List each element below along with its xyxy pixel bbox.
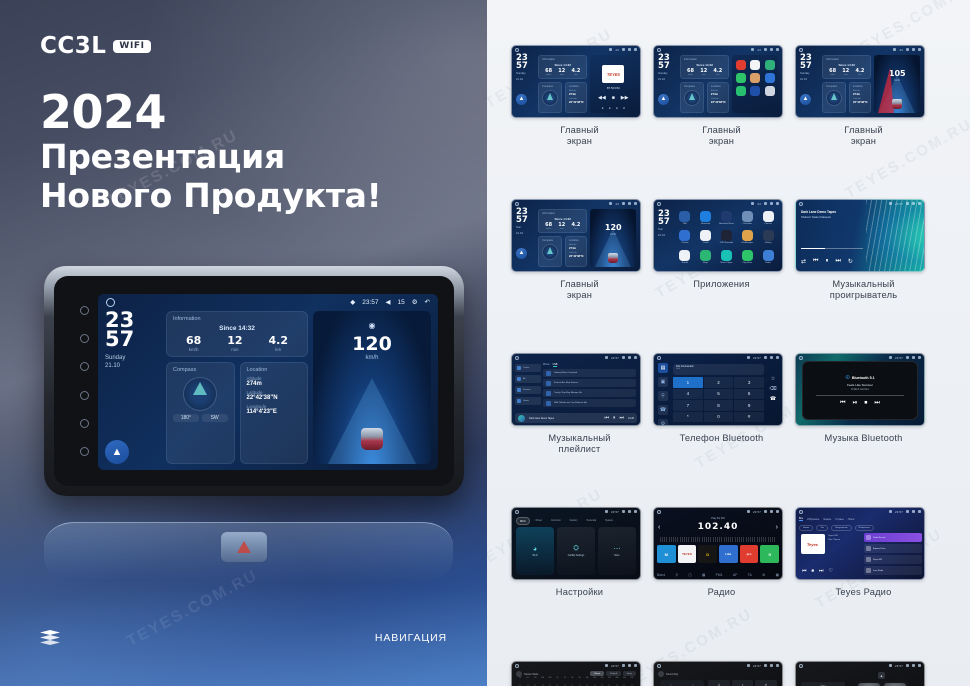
- clock-widget[interactable]: 23 57 Sunday 21.10 ▲: [658, 55, 677, 113]
- gallery-item[interactable]: 23:57 Play list FM ‹› 102.40 М TEYES D L…: [653, 507, 790, 615]
- gear-icon[interactable]: [628, 356, 631, 359]
- home-icon[interactable]: [106, 298, 115, 307]
- thumbnail-home-apps[interactable]: 23 23 57 Sunday 21.10 ▲ Information Sinc…: [653, 45, 783, 118]
- app-tile[interactable]: Music Player: [718, 250, 736, 267]
- preset-pop[interactable]: ♫Pop: [708, 680, 730, 686]
- information-card[interactable]: Information Since 14:32 68km/h 12min 4.2…: [680, 55, 729, 79]
- app-tile[interactable]: Carbit: [697, 230, 715, 247]
- key-4[interactable]: 4: [673, 389, 703, 400]
- eq-band-500[interactable]: 500: [547, 681, 553, 686]
- thumbnail-apps[interactable]: 23 23 57 Sun 21.10 WiFi Bluetooth Blueto…: [653, 199, 783, 272]
- thumbnail-equalizer-presets[interactable]: 23:57 Sound EQ ♫Pop ♪Classic ♬Rock ♩Jazz…: [653, 661, 783, 686]
- eq-band-4k[interactable]: 4k: [569, 681, 575, 686]
- bluetooth-icon[interactable]: ●: [601, 106, 603, 110]
- back-icon[interactable]: [918, 48, 921, 51]
- radio-icon[interactable]: ●: [609, 106, 611, 110]
- default-button[interactable]: Default: [606, 671, 621, 676]
- save-button[interactable]: Save: [623, 671, 636, 676]
- radio-frequency: 87.50 FM: [590, 86, 636, 90]
- speed-widget[interactable]: 105 km/h: [874, 55, 920, 113]
- eq-band-63k[interactable]: 63k: [629, 681, 635, 686]
- search-icon[interactable]: ⚲: [658, 391, 668, 401]
- app-tile[interactable]: WiFi: [676, 211, 694, 228]
- compass-card[interactable]: Compass: [680, 82, 704, 113]
- back-icon[interactable]: [776, 202, 779, 205]
- chip-favorites[interactable]: Избранное: [855, 525, 874, 531]
- back-icon[interactable]: [776, 664, 779, 667]
- usb-icon[interactable]: ●: [616, 106, 618, 110]
- station-icon: [866, 568, 871, 573]
- player-controls[interactable]: ⏮ ⏹ ⏭ ♡: [802, 568, 833, 574]
- eq-band-20k[interactable]: 20k: [591, 681, 597, 686]
- thumbnail-home-speed-120[interactable]: 23 23 57 Sun 21.10 ▲ Information Since 1…: [511, 199, 641, 272]
- eq-band-31k[interactable]: 31k: [606, 681, 612, 686]
- balance-pad[interactable]: [856, 681, 908, 686]
- af-button[interactable]: AF: [733, 573, 737, 577]
- settings-card-car[interactable]: ⛭Car/EQ Settings: [557, 527, 595, 575]
- app-icon-settings[interactable]: [750, 86, 760, 96]
- eq-preset-buttons[interactable]: ♫Pop ♪Classic ♬Rock ♩Jazz ⚙Custom ♬Vocal…: [708, 680, 777, 686]
- app-icon-youtube[interactable]: [736, 60, 746, 70]
- gallery-item[interactable]: 23:57 Sound EQ ♫Pop ♪Classic ♬Rock ♩Jazz…: [653, 661, 790, 686]
- gallery-item[interactable]: 23:57 Все Избранное Жанры Страны Поиск Н…: [795, 507, 932, 615]
- tab-all[interactable]: Все: [799, 517, 803, 521]
- back-icon[interactable]: [634, 202, 637, 205]
- previous-icon[interactable]: ⏮: [802, 568, 807, 574]
- home-icon[interactable]: [657, 510, 661, 514]
- frequency-scale[interactable]: [660, 537, 776, 542]
- stop-icon[interactable]: ■: [612, 95, 615, 101]
- contacts-icon[interactable]: ▣: [658, 377, 668, 387]
- settings-card-wifi[interactable]: ◕Wi-Fi: [516, 527, 554, 575]
- thumbnail-radio[interactable]: 23:57 Play list FM ‹› 102.40 М TEYES D L…: [653, 507, 783, 580]
- gallery-app-icon[interactable]: [763, 230, 774, 241]
- back-icon[interactable]: [634, 510, 637, 513]
- key-6[interactable]: 6: [734, 389, 764, 400]
- gear-icon[interactable]: [628, 664, 631, 667]
- tab-usb[interactable]: USB: [553, 364, 558, 367]
- gallery-item[interactable]: 23:57 Wi-Fi Driver Common Factory Person…: [511, 507, 648, 615]
- gear-icon[interactable]: [628, 48, 631, 51]
- key-8[interactable]: 8: [704, 400, 734, 411]
- bluetooth-app-icon[interactable]: [700, 211, 711, 222]
- information-card[interactable]: Information Since 14:32 68km/h 12min 4.2…: [538, 209, 587, 233]
- list-item[interactable]: Tracky Chip Rap Mixtape No: [543, 389, 636, 397]
- settings-icon[interactable]: ⚙: [762, 573, 765, 577]
- thumbnail-bluetooth-phone[interactable]: 23:57 ▤ ▣ ⚲ ☎ ⚙ Not Connected Dial 1 2 3…: [653, 353, 783, 426]
- home-icon[interactable]: [515, 510, 519, 514]
- app-tile[interactable]: Ermob: [676, 250, 694, 267]
- thumbnail-home-speed-105[interactable]: 23 23 57 Sunday 21.10 ▲ Information Sinc…: [795, 45, 925, 118]
- gear-icon[interactable]: [770, 664, 773, 667]
- home-icon[interactable]: [799, 202, 803, 206]
- gear-icon[interactable]: [628, 202, 631, 205]
- hw-button-power-icon[interactable]: [80, 306, 89, 315]
- gallery-item[interactable]: 23 23 57 Sunday 21.10 ▲ Information Sinc…: [795, 45, 932, 153]
- stop-icon[interactable]: ⏹: [812, 568, 815, 574]
- gallery-item[interactable]: 23:57 Tracks All Favorite Genre Phone US…: [511, 353, 648, 461]
- tab-genres[interactable]: Жанры: [823, 518, 831, 521]
- next-icon[interactable]: ⏭: [620, 415, 625, 421]
- back-icon[interactable]: [918, 664, 921, 667]
- gear-icon[interactable]: [770, 510, 773, 513]
- gallery-item[interactable]: 23 23 57 Sunday 21.10 ▲ Information Sinc…: [653, 45, 790, 153]
- location-card[interactable]: Location Altitude 274m Latitude 22°42'38…: [240, 362, 309, 464]
- gallery-item[interactable]: 23:57 Stereo Wide Reset Default Save 326…: [511, 661, 648, 686]
- dvr-app-icon[interactable]: [721, 230, 732, 241]
- equalizer-band-sliders[interactable]: 32641252505001k2k4k8k16k20k25k31k40k50k6…: [517, 681, 635, 686]
- home-icon[interactable]: [657, 202, 661, 206]
- next-icon[interactable]: ⏭: [835, 258, 840, 265]
- list-item[interactable]: Fastest Ace Rap Startrus: [543, 379, 636, 387]
- backspace-icon[interactable]: ⌫: [769, 386, 776, 392]
- maps-app-icon[interactable]: [700, 250, 711, 261]
- camera-app-icon[interactable]: [763, 211, 774, 222]
- search-icon[interactable]: ⚲: [675, 573, 678, 577]
- thumbnail-teyes-radio[interactable]: 23:57 Все Избранное Жанры Страны Поиск Н…: [795, 507, 925, 580]
- sidebar-item-tracks[interactable]: Tracks: [515, 364, 541, 372]
- app-tile[interactable]: DVR Recorder: [718, 230, 736, 247]
- app-tile[interactable]: Play Store: [738, 250, 756, 267]
- preset-rock[interactable]: ♬Rock: [755, 680, 777, 686]
- key-hash[interactable]: #: [734, 412, 764, 423]
- settings-card-more[interactable]: ⋯More: [598, 527, 636, 575]
- eq-band-32[interactable]: 32: [517, 681, 523, 686]
- gear-icon[interactable]: [770, 202, 773, 205]
- call-history-icon[interactable]: ☎: [658, 405, 668, 415]
- hw-button-menu-icon[interactable]: [80, 334, 89, 343]
- chip-new[interactable]: Новое: [799, 525, 813, 531]
- progress-bar[interactable]: [801, 248, 863, 249]
- eq-band-2k[interactable]: 2k: [562, 681, 568, 686]
- app-tile[interactable]: FileManager: [738, 230, 756, 247]
- key-2[interactable]: 2: [704, 377, 734, 388]
- back-icon[interactable]: [776, 48, 779, 51]
- location-card[interactable]: Location Altitude274m Latitude22°42'38"N: [707, 82, 729, 113]
- speed-widget[interactable]: ◉ 120 km/h: [313, 311, 431, 464]
- eq-band-16k[interactable]: 16k: [584, 681, 590, 686]
- home-icon[interactable]: [799, 48, 803, 52]
- app-icon-all-apps[interactable]: [765, 86, 775, 96]
- app-tile[interactable]: Radio: [759, 250, 777, 267]
- gallery-item[interactable]: 23:57 Dark Lane Demo Tapes Shabazz Drake…: [795, 199, 932, 307]
- hw-button-home-icon[interactable]: [80, 362, 89, 371]
- list-item[interactable]: Wild Talk Ascent Crip Release Mp: [543, 399, 636, 407]
- thumbnail-bluetooth-music[interactable]: 23:57 ☉Bluetooth 5.1 Feels Like Summer C…: [795, 353, 925, 426]
- back-icon[interactable]: [918, 202, 921, 205]
- phone-actions[interactable]: ☆ ⌫ ☎: [766, 376, 780, 402]
- teyes-radio-filters[interactable]: Новое Топ Популярные Избранное: [799, 525, 921, 531]
- preset-teyes[interactable]: TEYES: [678, 545, 697, 563]
- tab-driver[interactable]: Driver: [533, 517, 545, 525]
- fader-group[interactable]: [660, 680, 704, 686]
- gear-icon[interactable]: [770, 356, 773, 359]
- key-9[interactable]: 9: [734, 400, 764, 411]
- app-icon-chrome[interactable]: [765, 73, 775, 83]
- music-player-app-icon[interactable]: [721, 250, 732, 261]
- app-icon-maps[interactable]: [765, 60, 775, 70]
- sidebar-item-favorite[interactable]: Favorite: [515, 386, 541, 394]
- home-icon[interactable]: [515, 202, 519, 206]
- information-card[interactable]: Information Since 14:32 68 km/h 12: [166, 311, 308, 357]
- genre-icon: [517, 399, 521, 403]
- list-item[interactable]: Ретро FM: [864, 555, 922, 564]
- repeat-icon[interactable]: ↻: [848, 258, 853, 265]
- wifi-app-icon[interactable]: [679, 211, 690, 222]
- favorite-icon[interactable]: ☆: [771, 376, 775, 382]
- back-icon[interactable]: [634, 664, 637, 667]
- preset-record[interactable]: pro: [740, 545, 759, 563]
- home-icon[interactable]: [799, 356, 803, 360]
- app-icon-carbit[interactable]: [750, 60, 760, 70]
- next-icon[interactable]: ⏭: [819, 568, 824, 574]
- gallery-item[interactable]: 23:57 ☉Bluetooth 5.1 Feels Like Summer C…: [795, 353, 932, 461]
- sidebar-item-genre[interactable]: Genre: [515, 397, 541, 405]
- eq-band-64[interactable]: 64: [524, 681, 530, 686]
- call-icon[interactable]: ☎: [770, 396, 776, 402]
- preset-dfm[interactable]: D: [698, 545, 717, 563]
- stop-icon[interactable]: ⏹: [864, 400, 867, 407]
- eq-icon[interactable]: ▩: [702, 573, 705, 577]
- preset-classic[interactable]: ♪Classic: [732, 680, 754, 686]
- gallery-item[interactable]: 23:57 Front Rear Left Right ▲ ▼ ◀ ▶: [795, 661, 932, 686]
- previous-icon[interactable]: ⏮: [813, 258, 818, 265]
- preset-like-fm[interactable]: Like: [719, 545, 738, 563]
- compass-card[interactable]: Compass: [538, 236, 562, 267]
- tab-common[interactable]: Common: [548, 517, 564, 525]
- previous-icon[interactable]: ⏮: [604, 415, 609, 421]
- navigation-button[interactable]: ▲: [516, 94, 527, 105]
- gear-icon[interactable]: [912, 664, 915, 667]
- thumbnail-equalizer-bands[interactable]: 23:57 Stereo Wide Reset Default Save 326…: [511, 661, 641, 686]
- head-unit-screen[interactable]: ◆ 23:57 ◀ 15 ⚙ ↶ 23 57 Sunday: [98, 294, 438, 470]
- information-card[interactable]: Information Since 14:32 68km/h 12min 4.2…: [538, 55, 587, 79]
- key-star[interactable]: *: [673, 412, 703, 423]
- hardware-button-rail[interactable]: [73, 296, 95, 466]
- home-icon[interactable]: [657, 48, 661, 52]
- home-icon[interactable]: [515, 664, 519, 668]
- location-card[interactable]: Location Altitude274m Latitude22°42'38"N: [565, 82, 587, 113]
- pause-icon[interactable]: ⏸: [613, 415, 616, 421]
- tab-system[interactable]: System: [602, 517, 616, 525]
- back-icon[interactable]: [918, 510, 921, 513]
- thumbnail-settings[interactable]: 23:57 Wi-Fi Driver Common Factory Person…: [511, 507, 641, 580]
- chip-top[interactable]: Топ: [816, 525, 828, 531]
- media-controls[interactable]: ◀◀■▶▶: [590, 95, 636, 101]
- back-icon[interactable]: [634, 48, 637, 51]
- hw-button-volume-up-icon[interactable]: [80, 447, 89, 456]
- sidebar-item-all[interactable]: All: [515, 375, 541, 383]
- ermob-app-icon[interactable]: [679, 250, 690, 261]
- key-1[interactable]: 1: [673, 377, 703, 388]
- next-icon[interactable]: ⏭: [874, 400, 879, 407]
- key-3[interactable]: 3: [734, 377, 764, 388]
- now-playing-bar[interactable]: Dark Lane Demo Tapes ⏮ ⏸ ⏭ 01:26: [515, 413, 637, 423]
- eq-band-25k[interactable]: 25k: [599, 681, 605, 686]
- aux-icon[interactable]: ●: [623, 106, 625, 110]
- gallery-item[interactable]: 23 23 57 Sunday 21.10 ▲ Information Sinc…: [511, 45, 648, 153]
- player-controls[interactable]: ⇄ ⏮ ⏸ ⏭ ↻: [801, 258, 863, 265]
- gear-icon[interactable]: [912, 202, 915, 205]
- home-icon[interactable]: [657, 664, 661, 668]
- eq-band-1k[interactable]: 1k: [554, 681, 560, 686]
- previous-icon[interactable]: ⏮: [840, 400, 845, 407]
- preset-megapolis[interactable]: М: [657, 545, 676, 563]
- item-caption: Главный экран: [653, 125, 790, 153]
- compass-card[interactable]: Compass: [822, 82, 846, 113]
- progress-bar[interactable]: [816, 395, 905, 396]
- gear-icon[interactable]: [912, 356, 915, 359]
- clock-widget[interactable]: 23 57 Sunday 21.10 ▲: [516, 55, 535, 113]
- play-pause-icon[interactable]: ⏯: [853, 400, 858, 407]
- phone-number-field[interactable]: Not Connected Dial: [673, 364, 764, 375]
- back-icon[interactable]: [776, 356, 779, 359]
- back-icon[interactable]: [918, 356, 921, 359]
- calculator-app-icon[interactable]: [742, 211, 753, 222]
- bluetooth-music-app-icon[interactable]: [721, 211, 732, 222]
- app-tile[interactable]: Maps: [697, 250, 715, 267]
- pause-icon[interactable]: ⏸: [825, 258, 828, 265]
- media-source-icons[interactable]: ●●●●: [590, 106, 636, 110]
- clock-widget[interactable]: 23 57 Sun 21.10 ▲: [516, 209, 535, 267]
- compass-card[interactable]: Compass 180° SW: [166, 362, 235, 464]
- gear-icon[interactable]: [912, 510, 915, 513]
- ta-button[interactable]: TA: [748, 573, 752, 577]
- eq-band-50k[interactable]: 50k: [621, 681, 627, 686]
- navigation-button[interactable]: ▲: [105, 440, 129, 464]
- app-icon-files[interactable]: [750, 73, 760, 83]
- media-widget[interactable]: TEYES 87.50 FM ◀◀■▶▶ ●●●●: [590, 55, 636, 113]
- list-item[interactable]: Европа Плюс: [864, 544, 922, 553]
- tab-phone[interactable]: Phone: [543, 364, 550, 367]
- location-card[interactable]: Location Altitude274m Latitude22°42'38"N: [565, 236, 587, 267]
- key-7[interactable]: 7: [673, 400, 703, 411]
- scan-icon[interactable]: ◫: [688, 573, 691, 577]
- back-icon[interactable]: ↶: [425, 298, 430, 306]
- balance-up-button[interactable]: ▲: [878, 672, 885, 679]
- eq-band-8k[interactable]: 8k: [577, 681, 583, 686]
- list-item[interactable]: Galaxy Watch Overload: [543, 369, 636, 377]
- home-icon[interactable]: [799, 664, 803, 668]
- back-icon[interactable]: [776, 510, 779, 513]
- home-icon[interactable]: [657, 356, 661, 360]
- prev-icon[interactable]: ◀◀: [598, 95, 606, 101]
- station-list[interactable]: Radio Record Европа Плюс Ретро FM Love R…: [864, 533, 922, 575]
- chrome-app-icon[interactable]: [679, 230, 690, 241]
- dial-pad[interactable]: 1 2 3 4 5 6 7 8 9 * 0 #: [673, 377, 764, 422]
- gear-icon[interactable]: [912, 48, 915, 51]
- app-tile[interactable]: Bluetooth Music: [718, 211, 736, 228]
- navigation-button[interactable]: ▲: [516, 248, 527, 259]
- app-tile[interactable]: Chrome: [676, 230, 694, 247]
- gallery-item[interactable]: 23 23 57 Sun 21.10 WiFi Bluetooth Blueto…: [653, 199, 790, 307]
- dialpad-icon[interactable]: ▤: [658, 363, 668, 373]
- location-altitude: Altitude 274m: [247, 376, 302, 387]
- thumbnail-music-player[interactable]: 23:57 Dark Lane Demo Tapes Shabazz Drake…: [795, 199, 925, 272]
- app-icon-spotify[interactable]: [736, 73, 746, 83]
- player-controls[interactable]: ⏮ ⏯ ⏹ ⏭: [840, 400, 880, 407]
- gear-icon[interactable]: [628, 510, 631, 513]
- information-card[interactable]: Information Since 14:32 68km/h 12min 4.2…: [822, 55, 871, 79]
- tab-wifi[interactable]: Wi-Fi: [516, 517, 530, 525]
- tab-search[interactable]: Поиск: [848, 518, 855, 521]
- radio-app-icon[interactable]: [763, 250, 774, 261]
- tab-favorites[interactable]: Избранное: [807, 518, 819, 521]
- list-item[interactable]: Love Radio: [864, 566, 922, 575]
- home-icon[interactable]: [515, 48, 519, 52]
- app-shortcuts-widget[interactable]: [732, 55, 778, 113]
- teyes-radio-tabs[interactable]: Все Избранное Жанры Страны Поиск: [799, 517, 921, 521]
- app-tile[interactable]: Bluetooth: [697, 211, 715, 228]
- eq-band-125[interactable]: 125: [532, 681, 538, 686]
- fm1-button[interactable]: FM1: [716, 573, 723, 577]
- navigation-button[interactable]: ▲: [658, 94, 669, 105]
- chip-popular[interactable]: Популярные: [831, 525, 852, 531]
- tab-personal[interactable]: Personal: [584, 517, 599, 525]
- filemanager-app-icon[interactable]: [742, 230, 753, 241]
- shuffle-icon[interactable]: ⇄: [801, 258, 806, 265]
- gear-icon[interactable]: [770, 48, 773, 51]
- tab-countries[interactable]: Страны: [835, 518, 844, 521]
- volume-icon: [906, 356, 909, 359]
- key-5[interactable]: 5: [704, 389, 734, 400]
- home-icon[interactable]: [515, 356, 519, 360]
- radio-presets[interactable]: М TEYES D Like pro Э: [657, 545, 779, 563]
- gallery-item[interactable]: 23 23 57 Sun 21.10 ▲ Information Since 1…: [511, 199, 648, 307]
- hw-button-back-icon[interactable]: [80, 391, 89, 400]
- app-tile[interactable]: Camera: [759, 211, 777, 228]
- reset-button[interactable]: Reset: [590, 671, 604, 676]
- phone-sidebar[interactable]: ▤ ▣ ⚲ ☎ ⚙: [656, 363, 670, 426]
- settings-tabs[interactable]: Wi-Fi Driver Common Factory Personal Sys…: [516, 517, 636, 525]
- gallery-item[interactable]: 23:57 ▤ ▣ ⚲ ☎ ⚙ Not Connected Dial 1 2 3…: [653, 353, 790, 461]
- eq-band-250[interactable]: 250: [539, 681, 545, 686]
- eq-top-buttons[interactable]: Reset Default Save: [590, 671, 636, 676]
- list-item[interactable]: Radio Record: [864, 533, 922, 542]
- eq-band-40k[interactable]: 40k: [614, 681, 620, 686]
- app-tile[interactable]: Gallery: [759, 230, 777, 247]
- preset-energy[interactable]: Э: [760, 545, 779, 563]
- clock-widget[interactable]: 23 57 Sunday 21.10 ▲: [800, 55, 819, 113]
- favorite-icon[interactable]: ♡: [829, 568, 833, 574]
- settings-icon[interactable]: ⚙: [658, 419, 668, 426]
- home-icon[interactable]: [799, 510, 803, 514]
- play-store-app-icon[interactable]: [742, 250, 753, 261]
- back-icon[interactable]: [634, 356, 637, 359]
- clock-widget[interactable]: 23 57 Sunday 21.10 ▲: [105, 311, 161, 464]
- band-button[interactable]: Band: [657, 573, 665, 577]
- radio-toolbar[interactable]: Band ⚲ ◫ ▩ FM1 AF TA ⚙ ▦: [657, 573, 779, 577]
- navigation-button[interactable]: ▲: [800, 94, 811, 105]
- location-card[interactable]: Location Altitude274m Latitude22°42'38"N: [849, 82, 871, 113]
- hw-button-volume-down-icon[interactable]: [80, 419, 89, 428]
- thumbnail-sound-balance[interactable]: 23:57 Front Rear Left Right ▲ ▼ ◀ ▶: [795, 661, 925, 686]
- app-tile[interactable]: Calculator: [738, 211, 756, 228]
- thumbnail-home-media[interactable]: 23 23 57 Sunday 21.10 ▲ Information Sinc…: [511, 45, 641, 118]
- app-icon-play-store[interactable]: [736, 86, 746, 96]
- key-0[interactable]: 0: [704, 412, 734, 423]
- apps-icon[interactable]: ▦: [776, 573, 779, 577]
- speed-widget[interactable]: 120 km/h: [590, 209, 636, 267]
- thumbnail-music-playlist[interactable]: 23:57 Tracks All Favorite Genre Phone US…: [511, 353, 641, 426]
- next-icon[interactable]: ▶▶: [621, 95, 629, 101]
- compass-card[interactable]: Compass: [538, 82, 562, 113]
- gear-icon[interactable]: ⚙: [412, 298, 418, 306]
- playlist-sidebar[interactable]: Tracks All Favorite Genre: [515, 364, 541, 405]
- tab-factory[interactable]: Factory: [567, 517, 581, 525]
- clock-widget[interactable]: 23 57 Sun 21.10: [658, 211, 676, 238]
- carbit-app-icon[interactable]: [700, 230, 711, 241]
